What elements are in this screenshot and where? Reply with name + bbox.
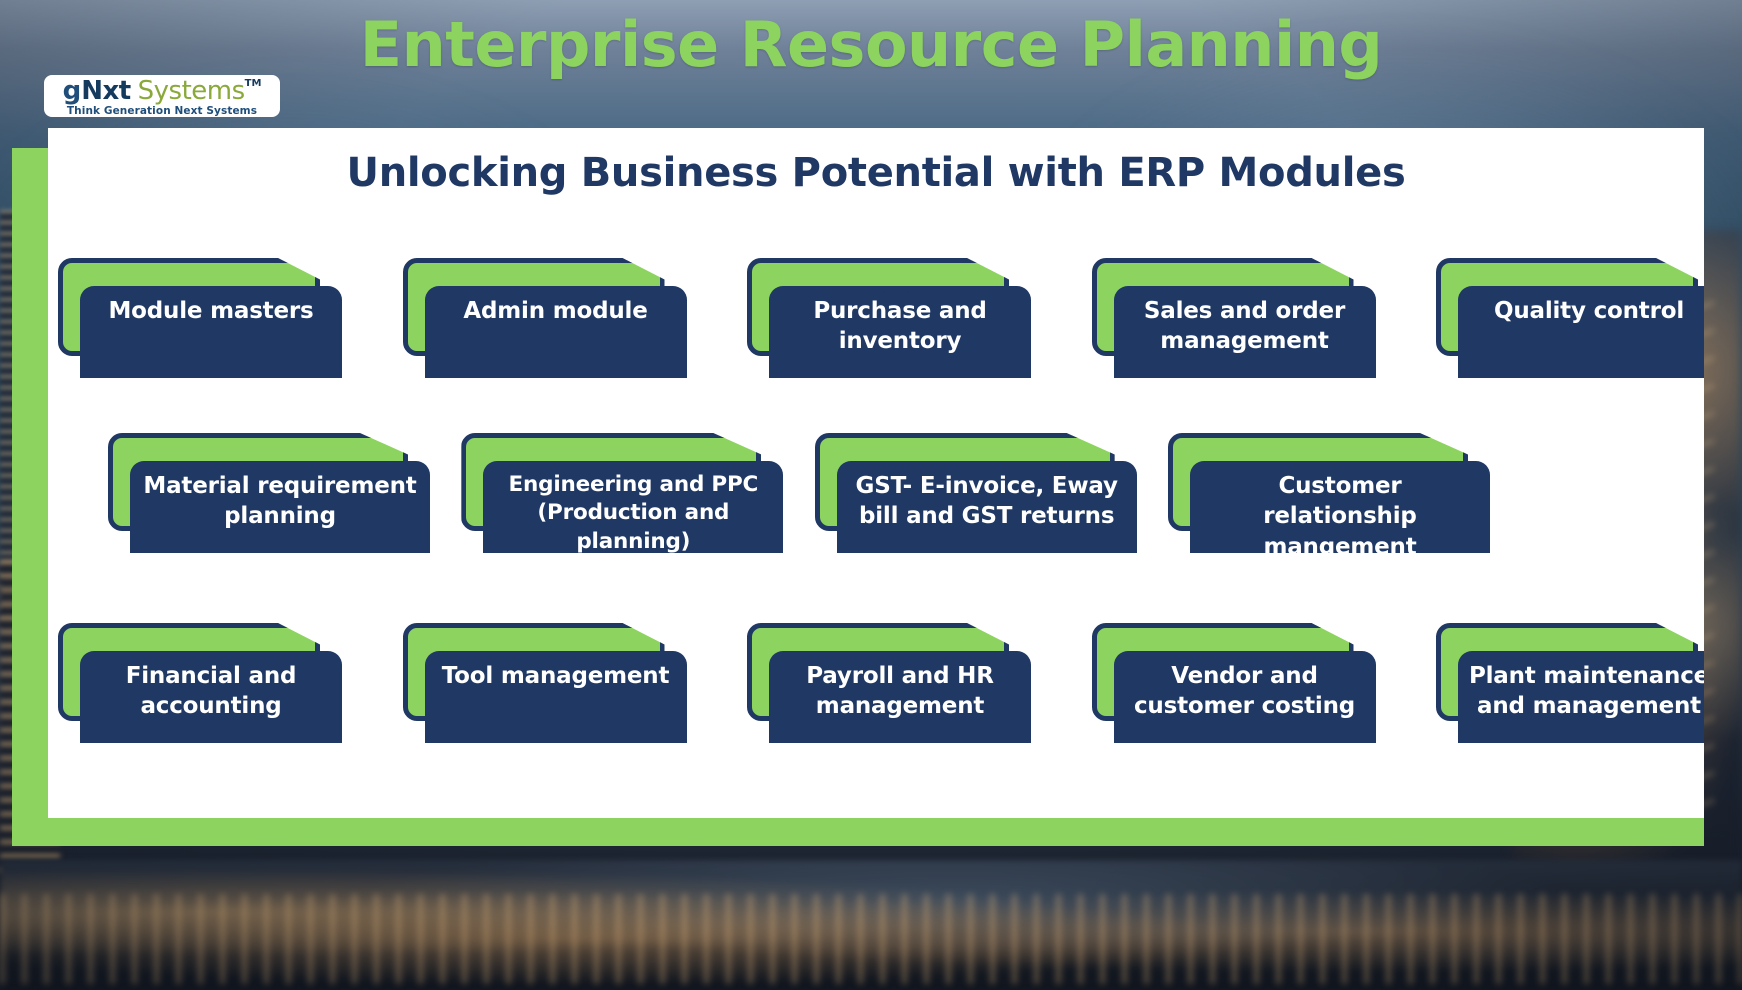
card-label-text: Customer relationship — [1263, 473, 1416, 529]
card-label: Sales and order management — [1122, 296, 1368, 357]
card-label: Admin module — [463, 296, 647, 326]
logo-wordmark: g Nxt Systems TM — [63, 78, 262, 104]
module-card[interactable]: Plant maintenance and management — [1436, 623, 1698, 721]
card-notch-icon — [1324, 461, 1350, 469]
card-body: Purchase and inventory — [769, 286, 1031, 378]
module-card[interactable]: Tool management — [403, 623, 665, 721]
card-body: Vendor and customer costing — [1114, 651, 1376, 743]
module-card[interactable]: Admin module — [403, 258, 665, 356]
card-notch-icon — [194, 286, 220, 294]
card-body: Financial and accounting — [80, 651, 342, 743]
card-body: Tool management — [425, 651, 687, 743]
card-label: GST- E-invoice, Eway bill and GST return… — [845, 471, 1129, 532]
card-body: Material requirement planning — [130, 461, 430, 553]
card-label: Tool management — [442, 661, 670, 691]
logo-trademark-icon: TM — [245, 79, 262, 89]
card-label: Vendor and customer costing — [1122, 661, 1368, 722]
module-card[interactable]: Sales and order management — [1092, 258, 1354, 356]
card-body: Plant maintenance and management — [1458, 651, 1704, 743]
card-notch-icon — [1572, 651, 1598, 659]
card-label-misspelled-word: mangement — [1263, 534, 1416, 553]
logo-text-nxt: Nxt — [81, 78, 130, 104]
module-card[interactable]: Customer relationship mangement — [1168, 433, 1468, 531]
card-body: GST- E-invoice, Eway bill and GST return… — [837, 461, 1137, 553]
card-notch-icon — [971, 461, 997, 469]
card-label: Customer relationship mangement — [1198, 471, 1482, 553]
deck-title: Enterprise Resource Planning — [0, 6, 1742, 84]
card-notch-icon — [539, 286, 565, 294]
card-body: Payroll and HR management — [769, 651, 1031, 743]
module-card[interactable]: Quality control — [1436, 258, 1698, 356]
card-body: Quality control — [1458, 286, 1704, 378]
module-row-1: Module masters Admin module Purchase and… — [58, 258, 1698, 356]
logo-tagline: Think Generation Next Systems — [67, 105, 257, 117]
card-notch-icon — [1572, 286, 1598, 294]
card-notch-icon — [1228, 286, 1254, 294]
module-card[interactable]: GST- E-invoice, Eway bill and GST return… — [815, 433, 1115, 531]
card-body: Sales and order management — [1114, 286, 1376, 378]
card-notch-icon — [617, 461, 643, 469]
module-card[interactable]: Financial and accounting — [58, 623, 320, 721]
card-notch-icon — [1228, 651, 1254, 659]
module-card[interactable]: Engineering and PPC (Production and plan… — [461, 433, 761, 531]
card-body: Module masters — [80, 286, 342, 378]
company-logo: g Nxt Systems TM Think Generation Next S… — [44, 75, 280, 117]
module-card[interactable]: Module masters — [58, 258, 320, 356]
module-row-2: Material requirement planning Engineerin… — [108, 433, 1468, 531]
card-body: Engineering and PPC (Production and plan… — [483, 461, 783, 553]
content-panel: Unlocking Business Potential with ERP Mo… — [48, 128, 1704, 818]
card-label: Plant maintenance and management — [1466, 661, 1704, 722]
card-label: Module masters — [108, 296, 313, 326]
card-notch-icon — [883, 286, 909, 294]
card-label: Purchase and inventory — [777, 296, 1023, 357]
card-label: Quality control — [1494, 296, 1684, 326]
module-card[interactable]: Purchase and inventory — [747, 258, 1009, 356]
logo-text-systems: Systems — [138, 78, 245, 104]
module-row-3: Financial and accounting Tool management… — [58, 623, 1698, 721]
module-card[interactable]: Vendor and customer costing — [1092, 623, 1354, 721]
module-card[interactable]: Material requirement planning — [108, 433, 408, 531]
card-notch-icon — [194, 651, 220, 659]
card-label: Financial and accounting — [88, 661, 334, 722]
card-body: Admin module — [425, 286, 687, 378]
card-notch-icon — [264, 461, 290, 469]
card-body: Customer relationship mangement — [1190, 461, 1490, 553]
card-label: Engineering and PPC (Production and plan… — [491, 471, 775, 553]
card-notch-icon — [539, 651, 565, 659]
module-card[interactable]: Payroll and HR management — [747, 623, 1009, 721]
slide-canvas: Enterprise Resource Planning g Nxt Syste… — [0, 0, 1742, 990]
logo-letter-g: g — [63, 78, 82, 104]
card-label: Material requirement planning — [138, 471, 422, 532]
card-notch-icon — [883, 651, 909, 659]
card-label: Payroll and HR management — [777, 661, 1023, 722]
page-title: Unlocking Business Potential with ERP Mo… — [48, 150, 1704, 196]
